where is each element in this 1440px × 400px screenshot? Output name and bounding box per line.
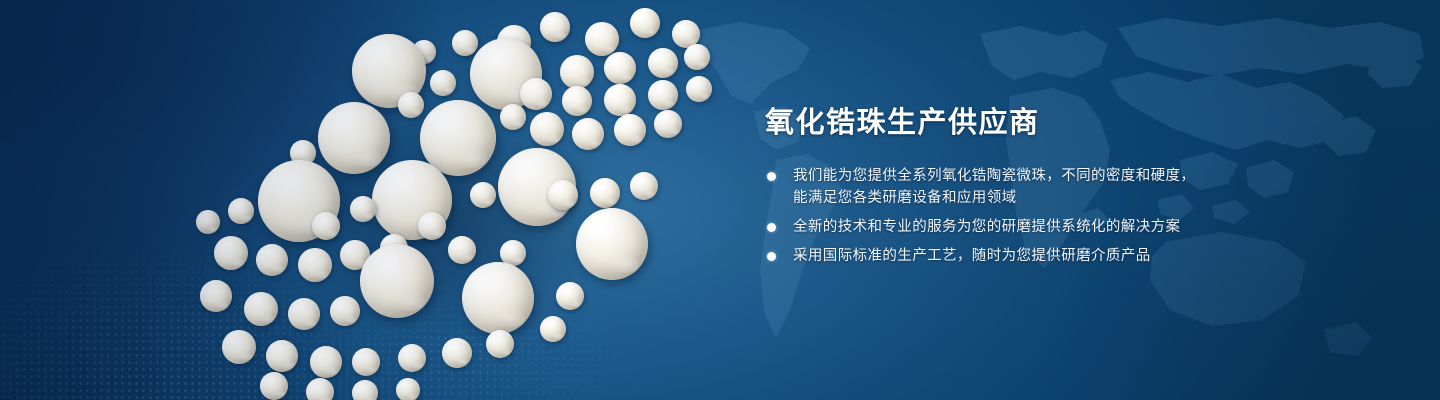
feature-list-item-label: 全新的技术和专业的服务为您的研磨提供系统化的解决方案 [793, 219, 1180, 235]
vignette-overlay [0, 0, 1440, 400]
banner-text-block: 氧化锆珠生产供应商 我们能为您提供全系列氧化锆陶瓷微珠，不同的密度和硬度，能满足… [765, 106, 1205, 274]
feature-list-item: 采用国际标准的生产工艺，随时为您提供研磨介质产品 [765, 245, 1205, 267]
bullet-dot-icon [767, 223, 776, 232]
feature-list-item: 全新的技术和专业的服务为您的研磨提供系统化的解决方案 [765, 216, 1205, 238]
feature-list-item-label: 我们能为您提供全系列氧化锆陶瓷微珠，不同的密度和硬度，能满足您各类研磨设备和应用… [793, 168, 1195, 206]
feature-list-item-label: 采用国际标准的生产工艺，随时为您提供研磨介质产品 [793, 248, 1151, 264]
bullet-dot-icon [767, 172, 776, 181]
promo-banner: 氧化锆珠生产供应商 我们能为您提供全系列氧化锆陶瓷微珠，不同的密度和硬度，能满足… [0, 0, 1440, 400]
bullet-dot-icon [767, 252, 776, 261]
banner-title: 氧化锆珠生产供应商 [765, 106, 1205, 141]
feature-list-item: 我们能为您提供全系列氧化锆陶瓷微珠，不同的密度和硬度，能满足您各类研磨设备和应用… [765, 165, 1205, 209]
banner-feature-list: 我们能为您提供全系列氧化锆陶瓷微珠，不同的密度和硬度，能满足您各类研磨设备和应用… [765, 165, 1205, 267]
